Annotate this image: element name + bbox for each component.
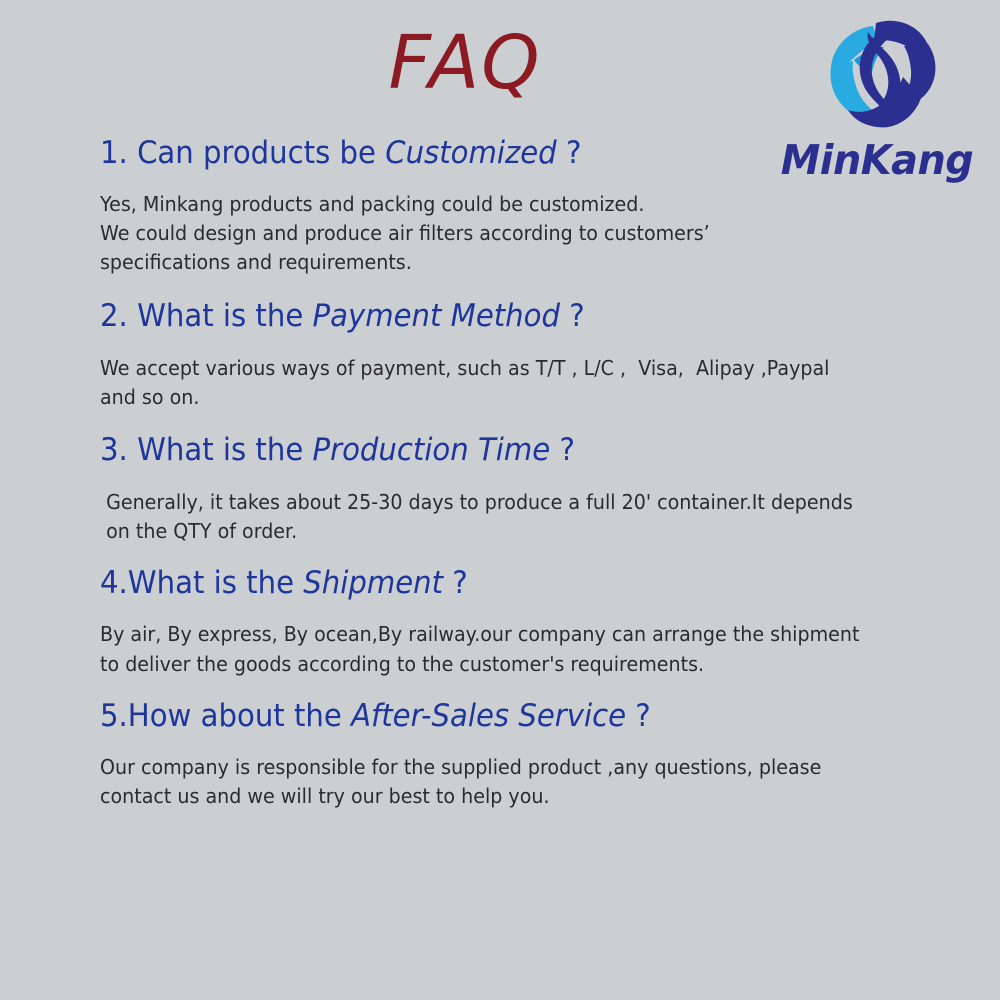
faq-question-5-tail: ? bbox=[626, 698, 651, 734]
faq-item-1: 1. Can products be Customized ? Yes, Min… bbox=[100, 134, 980, 277]
faq-content: 1. Can products be Customized ? Yes, Min… bbox=[100, 134, 980, 812]
faq-question-1-tail: ? bbox=[557, 135, 582, 171]
faq-page: FAQ MinKang bbox=[0, 0, 1000, 1000]
faq-question-1-lead: 1. Can products be bbox=[100, 135, 385, 171]
faq-question-4: 4.What is the Shipment ? bbox=[100, 564, 927, 604]
faq-question-3-emphasis: Production Time bbox=[313, 432, 551, 468]
faq-item-3: 3. What is the Production Time ? General… bbox=[100, 431, 980, 546]
faq-question-5-lead: 5.How about the bbox=[100, 698, 351, 734]
faq-item-4: 4.What is the Shipment ? By air, By expr… bbox=[100, 564, 980, 679]
faq-question-2-tail: ? bbox=[560, 298, 585, 334]
faq-question-2-emphasis: Payment Method bbox=[313, 298, 560, 334]
minkang-swirl-logo-icon bbox=[820, 14, 940, 138]
faq-question-3-tail: ? bbox=[550, 432, 575, 468]
faq-question-5: 5.How about the After-Sales Service ? bbox=[100, 697, 927, 737]
faq-answer-1: Yes, Minkang products and packing could … bbox=[100, 190, 918, 277]
faq-answer-5: Our company is responsible for the suppl… bbox=[100, 753, 918, 811]
faq-answer-4: By air, By express, By ocean,By railway.… bbox=[100, 620, 918, 678]
faq-question-3-lead: 3. What is the bbox=[100, 432, 313, 468]
faq-question-2: 2. What is the Payment Method ? bbox=[100, 297, 927, 337]
faq-answer-2: We accept various ways of payment, such … bbox=[100, 354, 918, 412]
faq-question-2-lead: 2. What is the bbox=[100, 298, 313, 334]
faq-question-4-emphasis: Shipment bbox=[303, 565, 443, 601]
faq-question-3: 3. What is the Production Time ? bbox=[100, 431, 927, 471]
faq-question-1-emphasis: Customized bbox=[385, 135, 556, 171]
faq-question-5-emphasis: After-Sales Service bbox=[351, 698, 626, 734]
faq-question-4-lead: 4.What is the bbox=[100, 565, 303, 601]
faq-question-1: 1. Can products be Customized ? bbox=[100, 134, 927, 174]
faq-item-5: 5.How about the After-Sales Service ? Ou… bbox=[100, 697, 980, 812]
faq-answer-3: Generally, it takes about 25-30 days to … bbox=[100, 488, 918, 546]
faq-question-4-tail: ? bbox=[443, 565, 468, 601]
faq-item-2: 2. What is the Payment Method ? We accep… bbox=[100, 297, 980, 412]
